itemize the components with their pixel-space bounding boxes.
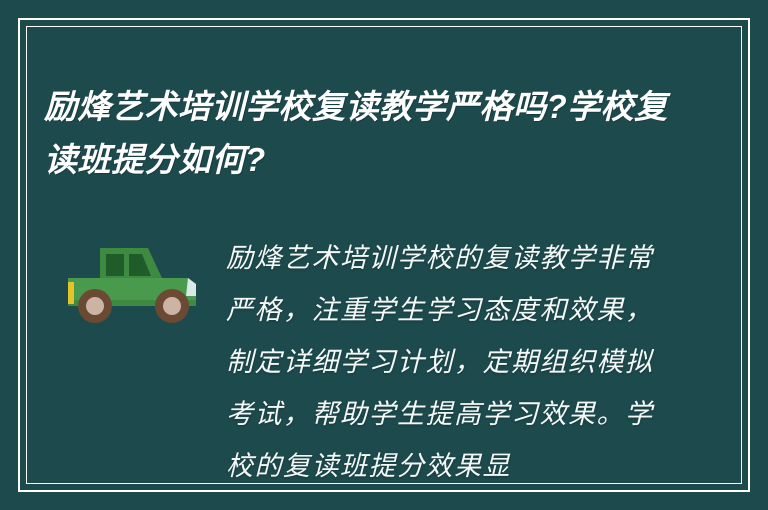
article-card: 励烽艺术培训学校复读教学严格吗?学校复读班提分如何? 励烽艺术培训学校的复读教学…	[0, 0, 768, 510]
article-body: 励烽艺术培训学校的复读教学非常严格，注重学生学习态度和效果，制定详细学习计划，定…	[226, 233, 658, 493]
pickup-truck-icon	[62, 226, 212, 346]
page-title: 励烽艺术培训学校复读教学严格吗?学校复读班提分如何?	[44, 80, 684, 186]
